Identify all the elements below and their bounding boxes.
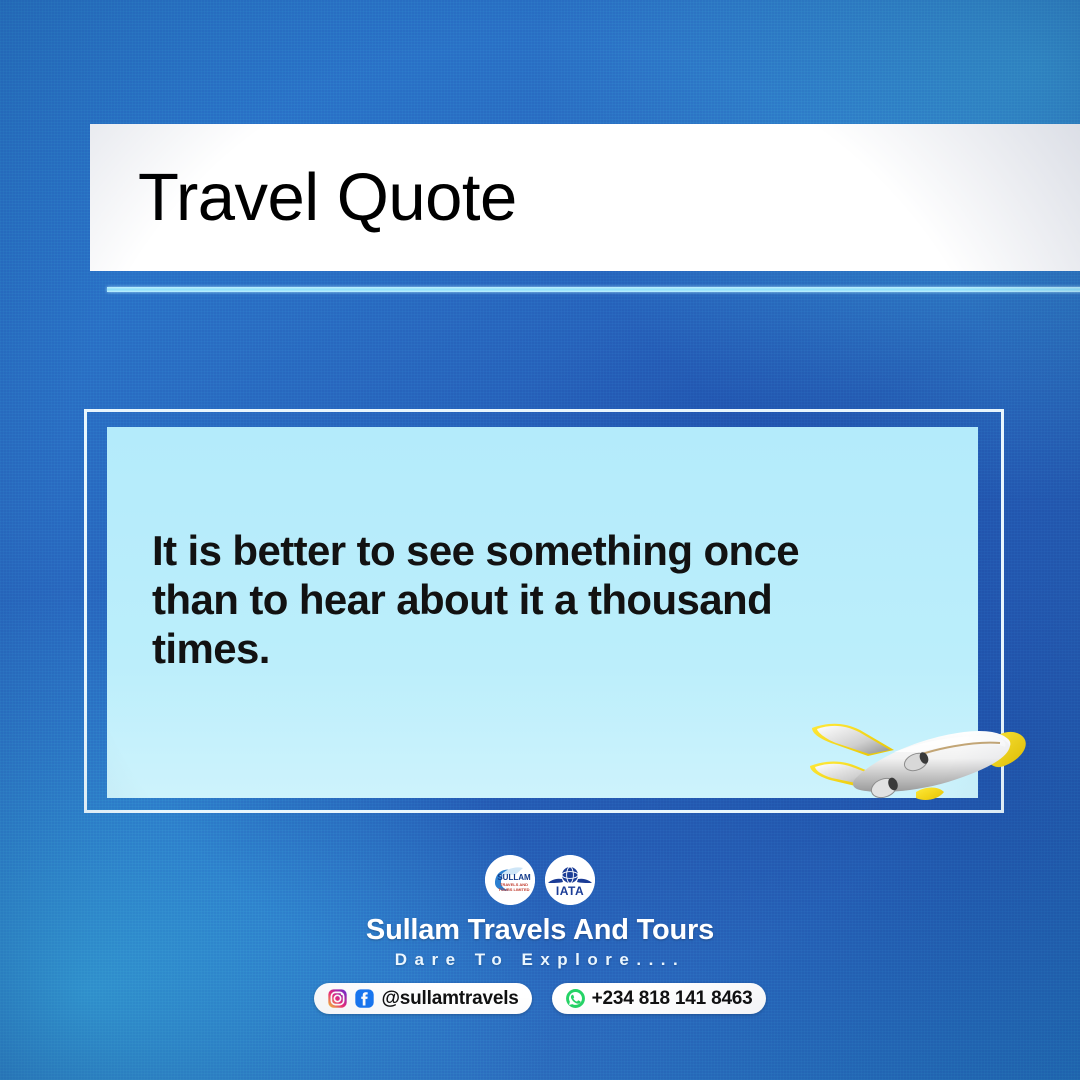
page-title: Travel Quote bbox=[138, 164, 517, 231]
iata-logo-icon: IATA bbox=[545, 855, 595, 905]
title-bar: Travel Quote bbox=[90, 124, 1080, 271]
svg-text:SULLAM: SULLAM bbox=[497, 873, 531, 882]
contact-pill-row: @sullamtravels +234 818 141 8463 bbox=[314, 983, 765, 1014]
social-handle-text: @sullamtravels bbox=[381, 988, 518, 1010]
logo-row: SULLAM TRAVELS AND TOURS LIMITED IATA bbox=[485, 855, 595, 905]
social-handle-pill[interactable]: @sullamtravels bbox=[314, 983, 531, 1014]
svg-text:IATA: IATA bbox=[556, 884, 584, 898]
svg-text:TOURS LIMITED: TOURS LIMITED bbox=[498, 887, 529, 892]
facebook-icon[interactable] bbox=[354, 988, 375, 1009]
instagram-icon[interactable] bbox=[327, 988, 348, 1009]
brand-name: Sullam Travels And Tours bbox=[366, 914, 714, 947]
airplane-icon bbox=[798, 700, 1030, 810]
whatsapp-icon[interactable] bbox=[565, 988, 586, 1009]
social-post-canvas: Travel Quote It is better to see somethi… bbox=[0, 0, 1080, 1080]
footer: SULLAM TRAVELS AND TOURS LIMITED IATA Su… bbox=[0, 855, 1080, 1014]
title-underline-rule bbox=[107, 287, 1080, 292]
brand-tagline: Dare To Explore.... bbox=[395, 950, 686, 970]
phone-pill[interactable]: +234 818 141 8463 bbox=[552, 983, 766, 1014]
quote-text: It is better to see something once than … bbox=[152, 526, 872, 673]
sullam-logo-icon: SULLAM TRAVELS AND TOURS LIMITED bbox=[485, 855, 535, 905]
phone-text: +234 818 141 8463 bbox=[592, 988, 753, 1010]
